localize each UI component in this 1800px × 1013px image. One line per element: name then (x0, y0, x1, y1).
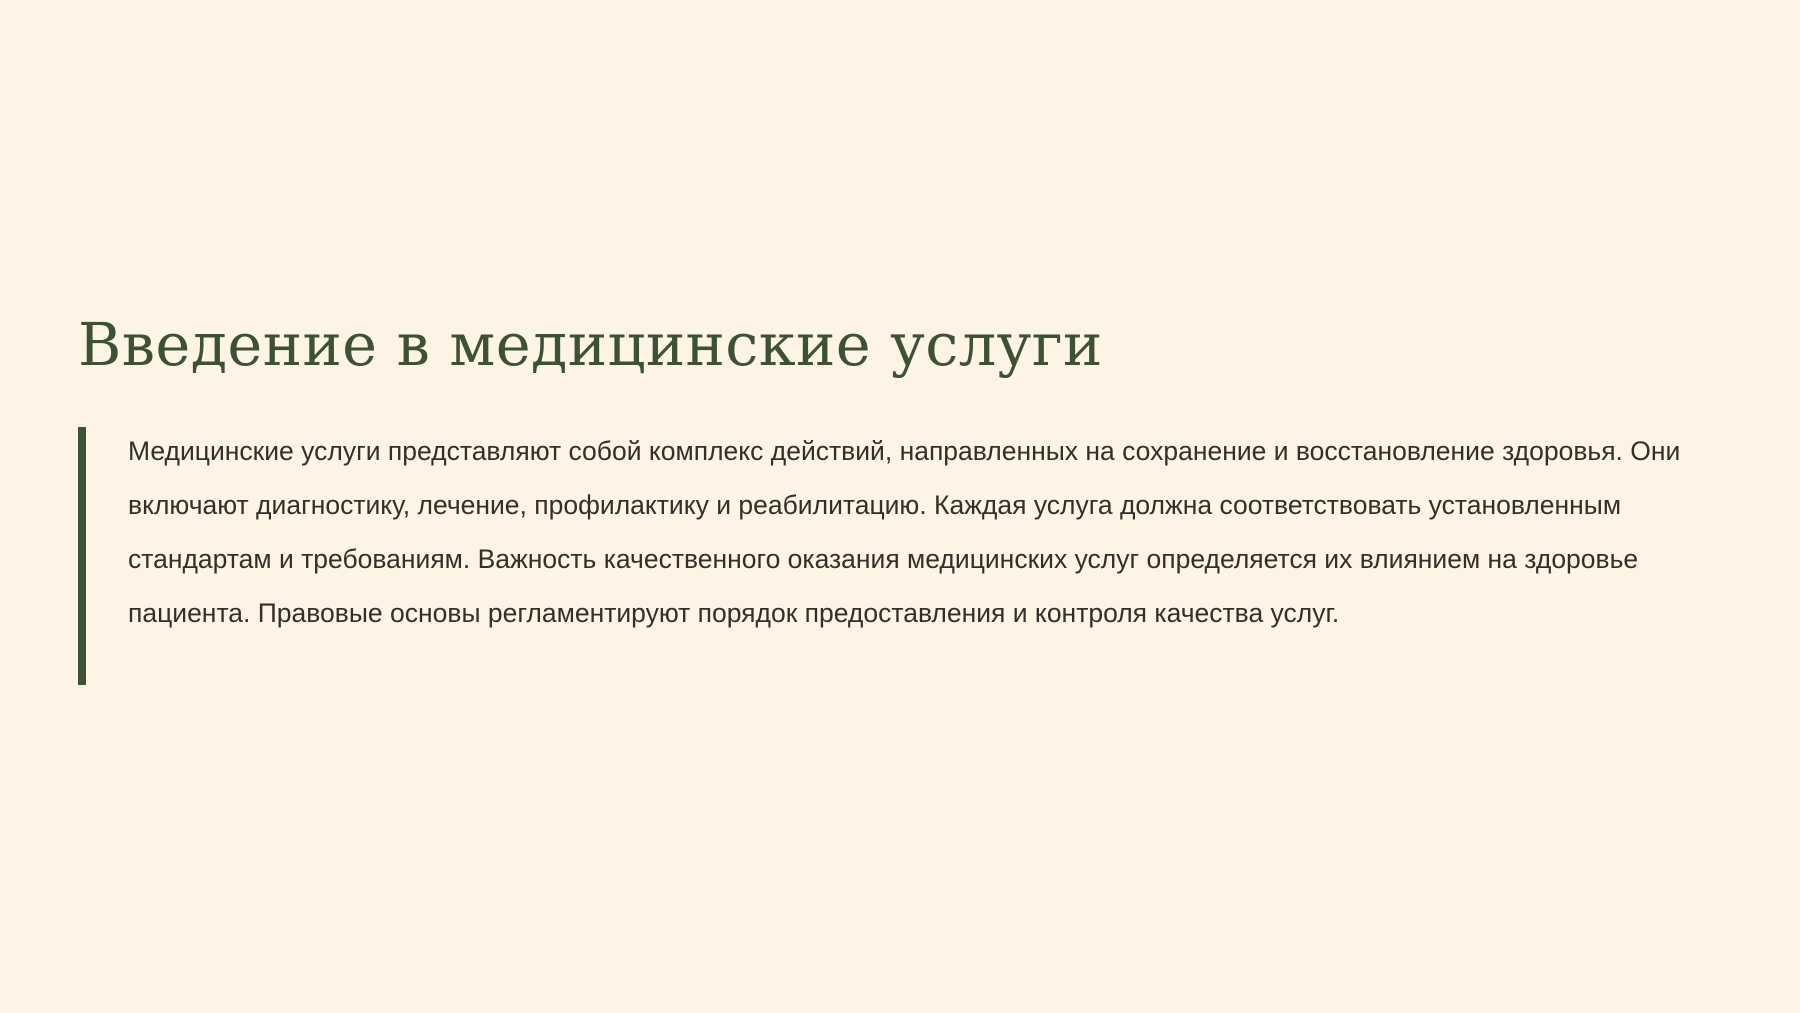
accent-bar (78, 427, 86, 685)
content-container: Введение в медицинские услуги Медицински… (78, 312, 1728, 640)
slide-canvas: Введение в медицинские услуги Медицински… (0, 0, 1800, 1013)
body-paragraph: Медицинские услуги представляют собой ко… (128, 424, 1743, 640)
page-title: Введение в медицинские услуги (78, 312, 1728, 378)
body-block: Медицинские услуги представляют собой ко… (78, 424, 1728, 640)
